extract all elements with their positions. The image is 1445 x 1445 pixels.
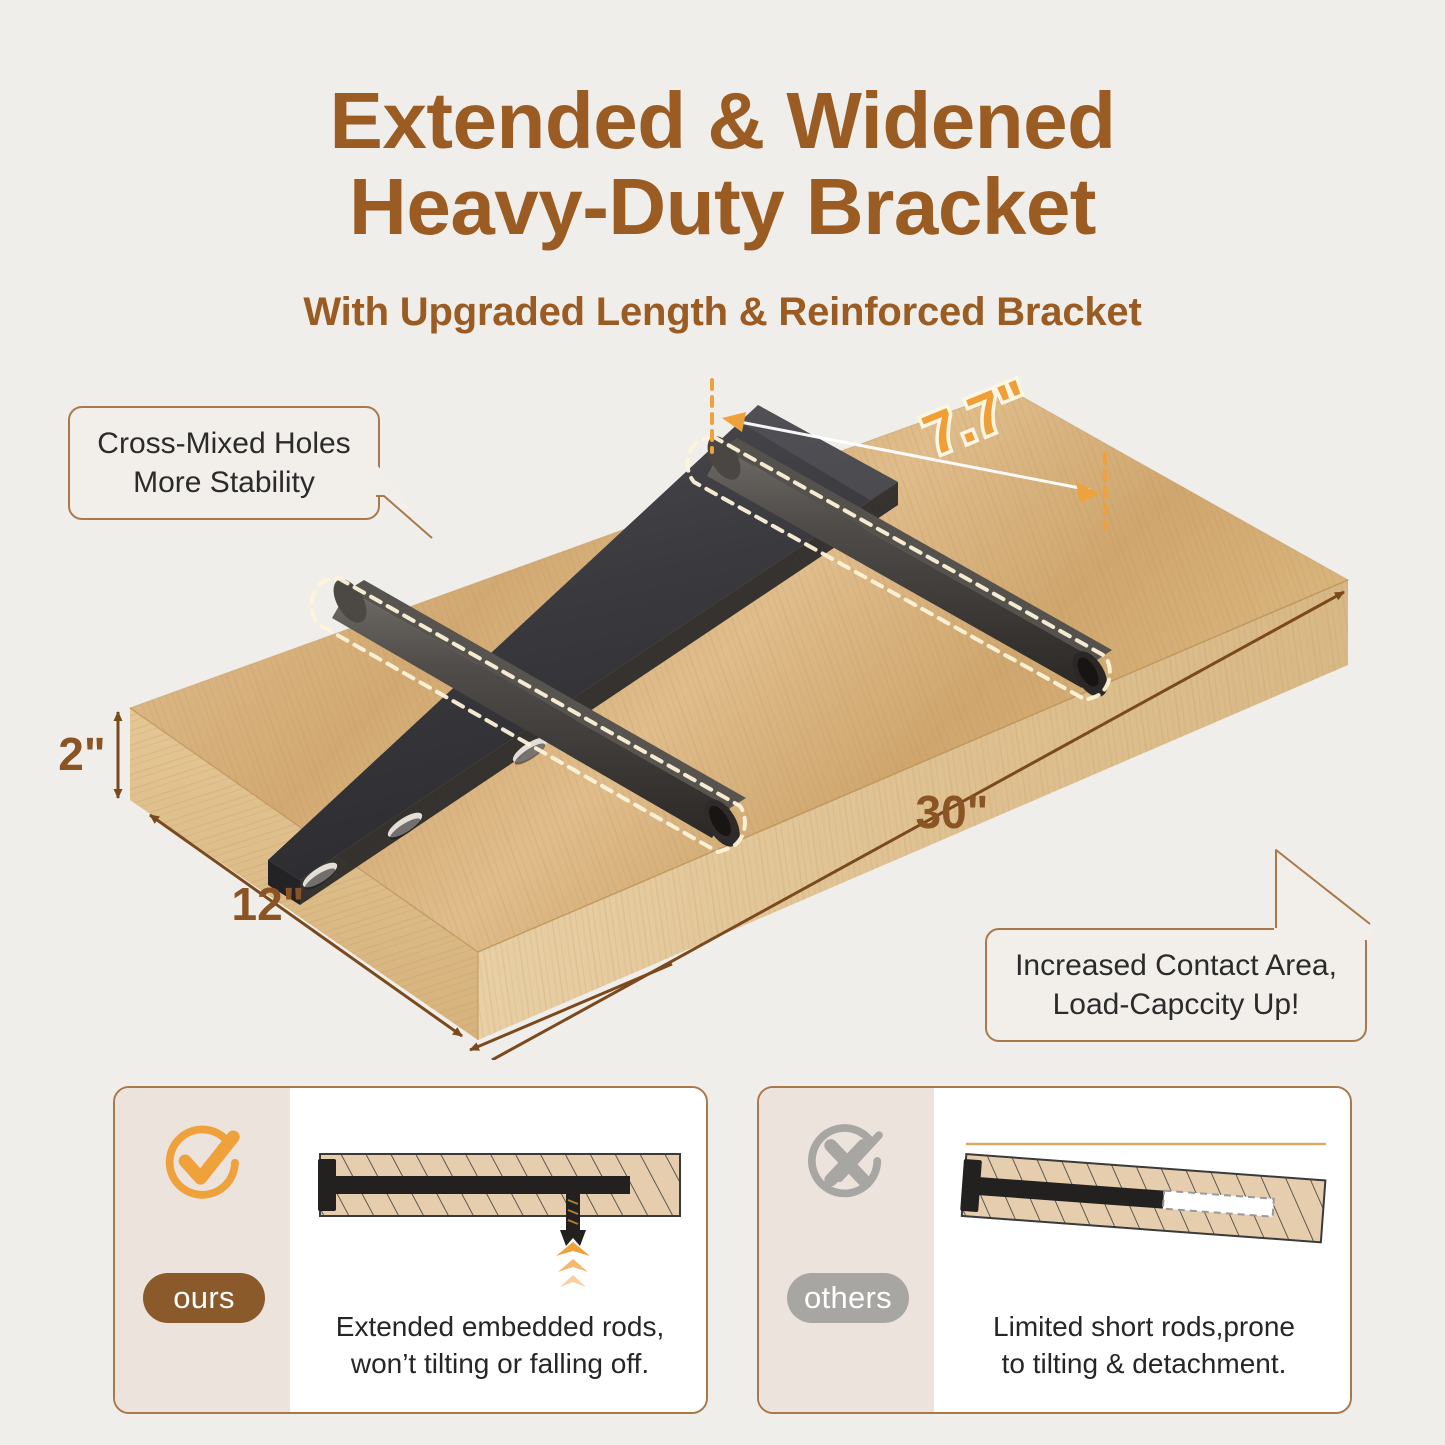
callout-increased-contact-area: Increased Contact Area, Load-Capccity Up… [985, 928, 1367, 1042]
page-subtitle: With Upgraded Length & Reinforced Bracke… [0, 290, 1445, 335]
page-title: Extended & Widened Heavy-Duty Bracket [0, 78, 1445, 249]
diagram-others-short-rod [934, 1106, 1352, 1306]
panel-ours-content: Extended embedded rods, won’t tilting or… [290, 1088, 708, 1412]
diagram-ours-embedded-rod [290, 1106, 708, 1306]
callout-contact-line-2: Load-Capccity Up! [1007, 985, 1345, 1024]
caption-ours-line-2: won’t tilting or falling off. [290, 1345, 708, 1382]
callout-holes-line-1: Cross-Mixed Holes [90, 424, 358, 463]
thickness-label: 2" [58, 728, 105, 780]
title-line-2: Heavy-Duty Bracket [0, 164, 1445, 250]
callout-contact-line-1: Increased Contact Area, [1007, 946, 1345, 985]
callout-cross-mixed-holes: Cross-Mixed Holes More Stability [68, 406, 380, 520]
caption-ours-line-1: Extended embedded rods, [290, 1308, 708, 1345]
circle-x-icon [805, 1118, 891, 1204]
infographic-canvas: Extended & Widened Heavy-Duty Bracket Wi… [0, 0, 1445, 1445]
dimension-thickness: 2" [58, 712, 118, 798]
caption-ours: Extended embedded rods, won’t tilting or… [290, 1308, 708, 1382]
badge-others: others [787, 1273, 909, 1323]
caption-others-line-1: Limited short rods,prone [934, 1308, 1352, 1345]
panel-others-content: Limited short rods,prone to tilting & de… [934, 1088, 1352, 1412]
panel-ours-badge-column: ours [115, 1088, 290, 1412]
caption-others: Limited short rods,prone to tilting & de… [934, 1308, 1352, 1382]
panel-others-badge-column: others [759, 1088, 934, 1412]
badge-ours: ours [143, 1273, 265, 1323]
panel-others: others [757, 1086, 1352, 1414]
comparison-section: ours [0, 1086, 1445, 1416]
panel-ours: ours [113, 1086, 708, 1414]
length-label: 30" [916, 786, 989, 838]
caption-others-line-2: to tilting & detachment. [934, 1345, 1352, 1382]
circle-check-icon [161, 1118, 247, 1204]
depth-label: 12" [232, 878, 305, 930]
callout-holes-line-2: More Stability [90, 463, 358, 502]
title-line-1: Extended & Widened [330, 76, 1116, 165]
